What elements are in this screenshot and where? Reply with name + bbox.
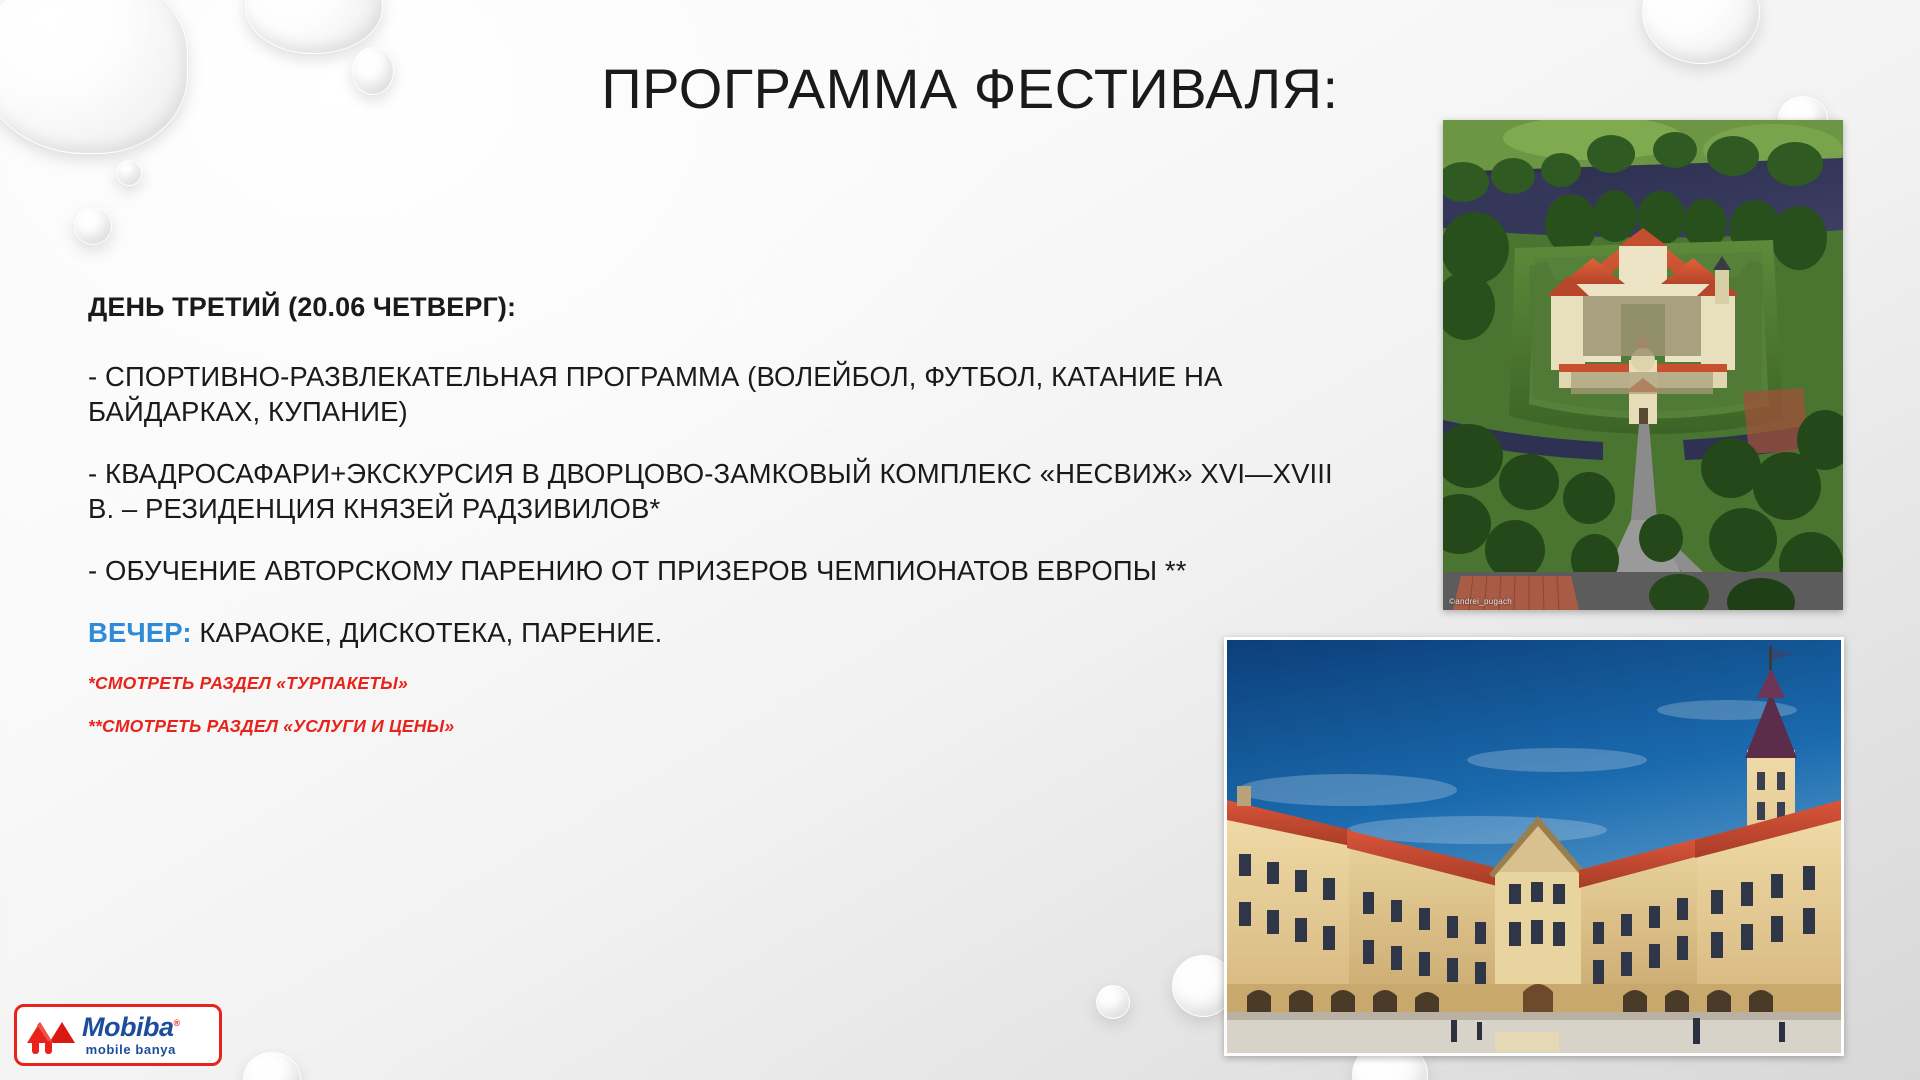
footnote-services-prices: **СМОТРЕТЬ РАЗДЕЛ «УСЛУГИ И ЦЕНЫ»: [88, 716, 1338, 737]
mobiba-tent-icon: [23, 1013, 79, 1057]
program-item-sports: - СПОРТИВНО-РАЗВЛЕКАТЕЛЬНАЯ ПРОГРАММА (В…: [88, 359, 1338, 429]
droplet-large-topleft: [0, 0, 188, 154]
droplet-small-topleft: [352, 47, 394, 95]
droplet-topleft-second: [245, 0, 383, 54]
droplet-bottom-left-corner: [243, 1052, 301, 1080]
mobiba-tagline: mobile banya: [82, 1043, 180, 1056]
droplet-topright: [1642, 0, 1760, 64]
registered-mark: ®: [174, 1018, 180, 1028]
mobiba-logo: Mobiba® mobile banya: [14, 1004, 222, 1066]
courtyard-illustration: [1227, 640, 1841, 1053]
mobiba-wordmark: Mobiba®: [82, 1014, 180, 1041]
droplet-tiny-topleft: [116, 160, 142, 186]
program-item-quadsafari: - КВАДРОСАФАРИ+ЭКСКУРСИЯ В ДВОРЦОВО-ЗАМК…: [88, 456, 1338, 526]
aerial-castle-photo: ©andrei_pugach: [1443, 120, 1843, 610]
evening-program: ВЕЧЕР: КАРАОКЕ, ДИСКОТЕКА, ПАРЕНИЕ.: [88, 615, 1338, 650]
aerial-castle-illustration: [1443, 120, 1843, 610]
day-heading: ДЕНЬ ТРЕТИЙ (20.06 ЧЕТВЕРГ):: [88, 290, 1338, 325]
program-item-training: - ОБУЧЕНИЕ АВТОРСКОМУ ПАРЕНИЮ ОТ ПРИЗЕРО…: [88, 553, 1338, 588]
evening-label: ВЕЧЕР:: [88, 617, 192, 648]
mobiba-logo-text: Mobiba® mobile banya: [82, 1014, 180, 1056]
courtyard-photo: [1224, 637, 1844, 1056]
droplet-small-left: [74, 207, 112, 245]
page-title: ПРОГРАММА ФЕСТИВАЛЯ:: [530, 58, 1410, 120]
photo-watermark: ©andrei_pugach: [1449, 597, 1512, 606]
evening-text: КАРАОКЕ, ДИСКОТЕКА, ПАРЕНИЕ.: [192, 617, 663, 648]
droplet-bottom-small: [1096, 985, 1130, 1019]
slide-body: ДЕНЬ ТРЕТИЙ (20.06 ЧЕТВЕРГ): - СПОРТИВНО…: [88, 290, 1338, 759]
footnote-tour-packages: *СМОТРЕТЬ РАЗДЕЛ «ТУРПАКЕТЫ»: [88, 673, 1338, 694]
